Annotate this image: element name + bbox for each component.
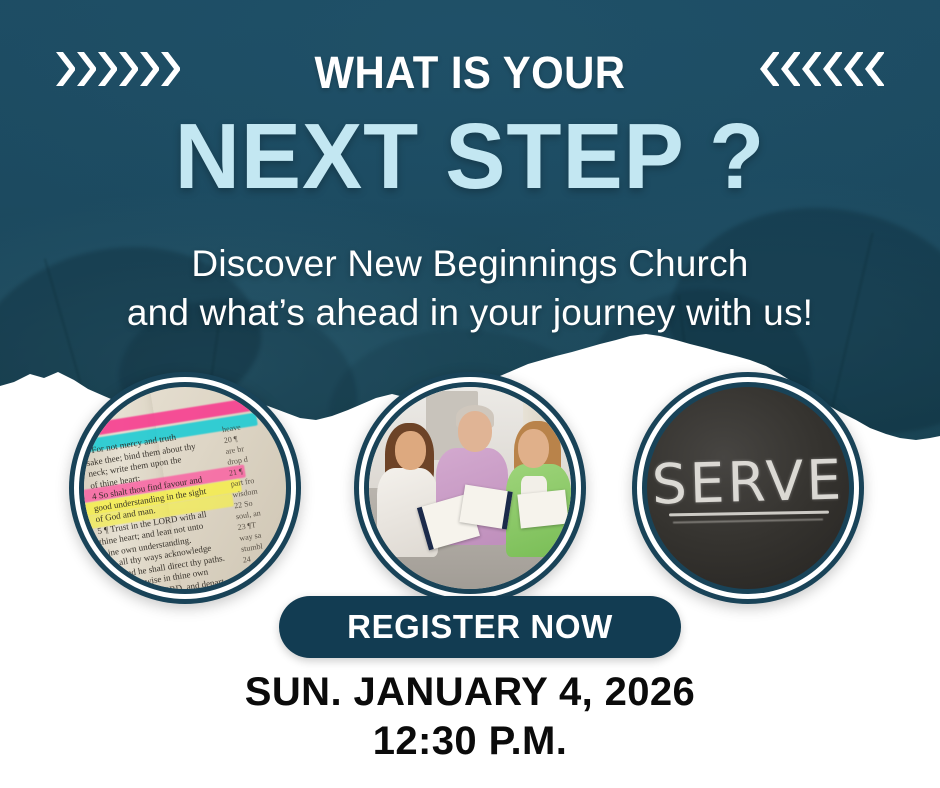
- circle-navy-ring: 1 For not mercy and truthsake thee; bind…: [79, 382, 291, 594]
- event-time: 12:30 P.M.: [0, 717, 940, 766]
- small-group-photo: [369, 387, 571, 589]
- woman-right-head: [518, 429, 548, 467]
- chalk-word: SERVE: [647, 447, 849, 516]
- woman-left-head: [395, 431, 425, 469]
- subtitle-line-2: and what’s ahead in your journey with us…: [0, 289, 940, 338]
- bible-photo: 1 For not mercy and truthsake thee; bind…: [84, 387, 286, 589]
- event-date: SUN. JANUARY 4, 2026: [0, 668, 940, 717]
- subtitle-line-1: Discover New Beginnings Church: [0, 240, 940, 289]
- circle-white-ring: SERVE: [637, 377, 859, 599]
- bible-page-art: 1 For not mercy and truthsake thee; bind…: [84, 387, 286, 589]
- subtitle-block: Discover New Beginnings Church and what’…: [0, 240, 940, 338]
- page-title: NEXT STEP ?: [14, 110, 926, 203]
- photo-circle-bible: 1 For not mercy and truthsake thee; bind…: [69, 372, 301, 604]
- open-bible: [459, 484, 513, 529]
- circle-navy-ring: SERVE: [642, 382, 854, 594]
- circle-navy-ring: [364, 382, 576, 594]
- kicker-text: WHAT IS YOUR: [33, 47, 907, 99]
- man-head: [458, 411, 492, 451]
- photo-circle-small-group: [354, 372, 586, 604]
- event-datetime-block: SUN. JANUARY 4, 2026 12:30 P.M.: [0, 668, 940, 766]
- photo-circle-serve: SERVE: [632, 372, 864, 604]
- open-bible: [517, 490, 569, 529]
- chalk-underline-smudge: [673, 519, 823, 524]
- circle-white-ring: 1 For not mercy and truthsake thee; bind…: [74, 377, 296, 599]
- promo-poster: WHAT IS YOUR NEXT STEP ? Discover New Be…: [0, 0, 940, 788]
- circle-white-ring: [359, 377, 581, 599]
- small-group-art: [369, 387, 571, 589]
- register-now-button[interactable]: REGISTER NOW: [279, 596, 681, 658]
- serve-photo: SERVE: [647, 387, 849, 589]
- chalkboard-art: SERVE: [647, 387, 849, 589]
